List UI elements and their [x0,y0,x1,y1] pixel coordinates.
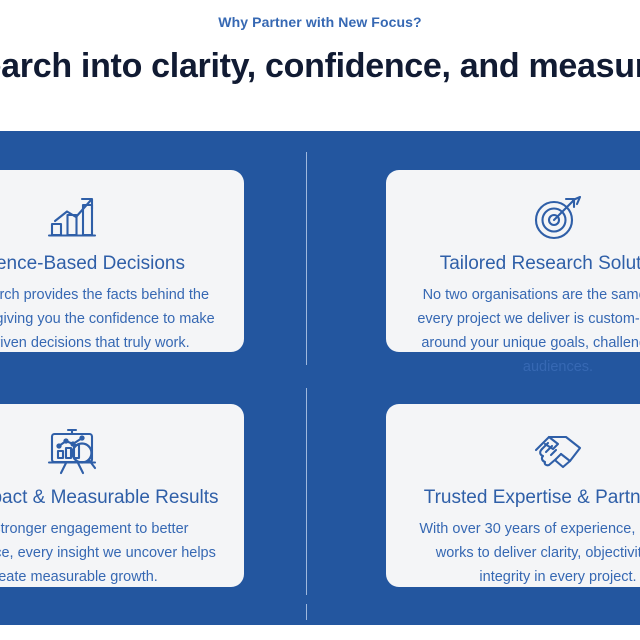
column-divider-top [306,152,307,365]
handshake-icon [412,426,640,476]
feature-card-body: From stronger engagement to better perfo… [0,517,218,589]
page-bottom-spacer [0,625,640,640]
feature-card-title: Real Impact & Measurable Results [0,486,218,510]
column-divider-bottom [306,604,307,620]
feature-card-body: Our research provides the facts behind t… [0,283,218,355]
feature-card-body: With over 30 years of experience, our te… [412,517,640,589]
section-header: Why Partner with New Focus? We turn rese… [0,0,640,131]
feature-card-trusted-expertise-partnership[interactable]: Trusted Expertise & Partnership With ove… [386,404,640,587]
section-eyebrow: Why Partner with New Focus? [0,14,640,30]
presentation-analysis-icon [0,426,218,476]
feature-card-title: Tailored Research Solutions [412,252,640,276]
target-dart-icon [412,192,640,242]
feature-card-title: Evidence-Based Decisions [0,252,218,276]
column-divider-middle [306,388,307,595]
feature-card-real-impact-measurable-results[interactable]: Real Impact & Measurable Results From st… [0,404,244,587]
section-headline: We turn research into clarity, confidenc… [0,42,640,90]
feature-card-title: Trusted Expertise & Partnership [412,486,640,510]
feature-card-body: No two organisations are the same — and … [412,283,640,379]
bar-chart-growth-icon [0,192,218,242]
feature-card-tailored-research-solutions[interactable]: Tailored Research Solutions No two organ… [386,170,640,352]
feature-card-evidence-based-decisions[interactable]: Evidence-Based Decisions Our research pr… [0,170,244,352]
